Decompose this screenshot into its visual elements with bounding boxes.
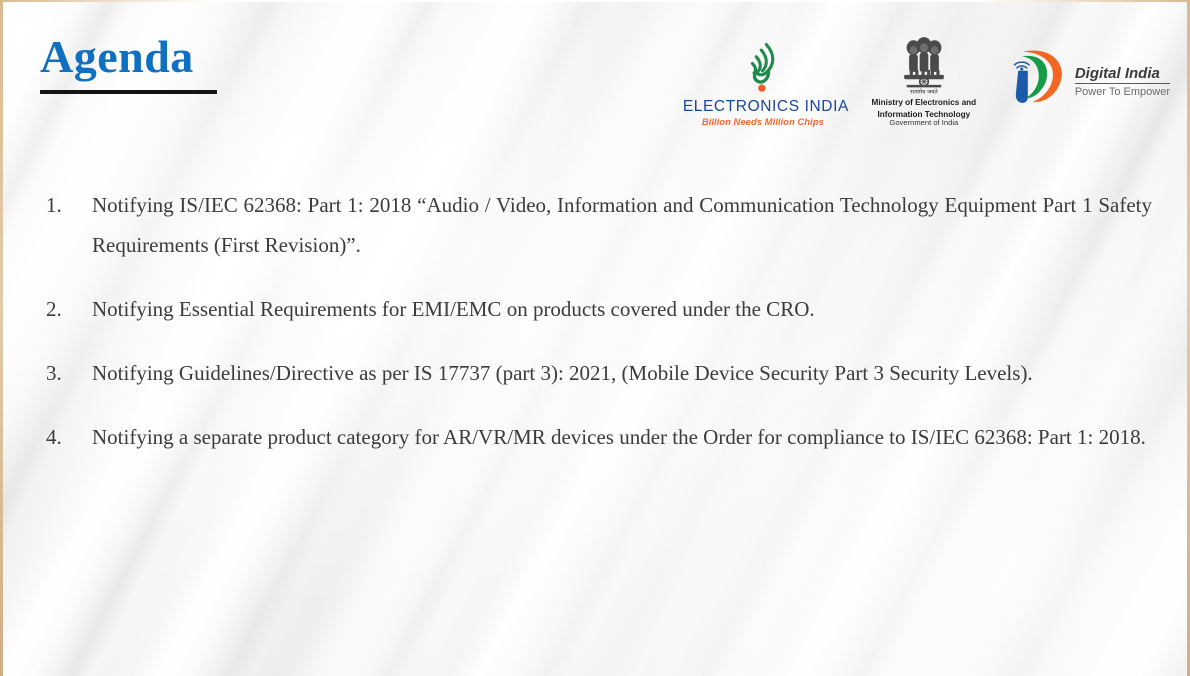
slide: Agenda ELECTRONICS INDIA Billion Needs M… bbox=[0, 0, 1190, 676]
page-title: Agenda bbox=[40, 34, 217, 80]
agenda-item-2-text: Notifying Essential Requirements for EMI… bbox=[92, 290, 1152, 330]
ministry-line-1: Ministry of Electronics and bbox=[865, 98, 983, 108]
agenda-item-3-number: 3. bbox=[46, 354, 92, 394]
slide-border-left bbox=[0, 0, 3, 676]
logo-ministry-of-electronics-and-it: सत्यमेव जयते Ministry of Electronics and… bbox=[865, 34, 983, 128]
agenda-item-1-text: Notifying IS/IEC 62368: Part 1: 2018 “Au… bbox=[92, 186, 1152, 266]
agenda-item-4-number: 4. bbox=[46, 418, 92, 458]
agenda-item-4: 4. Notifying a separate product category… bbox=[46, 418, 1152, 458]
agenda-item-2-number: 2. bbox=[46, 290, 92, 330]
electronics-india-tagline: Billion Needs Million Chips bbox=[683, 117, 843, 128]
slide-border-top bbox=[0, 0, 1190, 2]
agenda-item-3: 3. Notifying Guidelines/Directive as per… bbox=[46, 354, 1152, 394]
agenda-item-3-text: Notifying Guidelines/Directive as per IS… bbox=[92, 354, 1152, 394]
ashoka-motto-text: सत्यमेव जयते bbox=[910, 89, 938, 96]
digital-india-name: Digital India bbox=[1075, 65, 1170, 84]
logo-digital-india: Digital India Power To Empower bbox=[1005, 34, 1170, 108]
logo-electronics-india: ELECTRONICS INDIA Billion Needs Million … bbox=[683, 34, 843, 128]
digital-india-tagline: Power To Empower bbox=[1075, 86, 1170, 98]
title-block: Agenda bbox=[40, 34, 217, 94]
agenda-item-2: 2. Notifying Essential Requirements for … bbox=[46, 290, 1152, 330]
digital-india-swoosh-icon bbox=[1005, 42, 1071, 108]
electronics-india-name: ELECTRONICS INDIA bbox=[683, 98, 843, 116]
ashoka-emblem-icon: सत्यमेव जयते bbox=[893, 34, 955, 96]
title-underline-rule bbox=[40, 90, 217, 94]
agenda-list: 1. Notifying IS/IEC 62368: Part 1: 2018 … bbox=[46, 186, 1152, 481]
agenda-item-4-text: Notifying a separate product category fo… bbox=[92, 418, 1152, 458]
agenda-item-1: 1. Notifying IS/IEC 62368: Part 1: 2018 … bbox=[46, 186, 1152, 266]
agenda-item-1-number: 1. bbox=[46, 186, 92, 226]
electronics-india-dot-icon bbox=[758, 85, 765, 92]
ministry-line-3: Government of India bbox=[865, 119, 983, 128]
digital-india-text-block: Digital India Power To Empower bbox=[1075, 53, 1170, 98]
logo-strip: ELECTRONICS INDIA Billion Needs Million … bbox=[683, 34, 1170, 128]
electronics-india-flame-icon bbox=[735, 40, 791, 96]
